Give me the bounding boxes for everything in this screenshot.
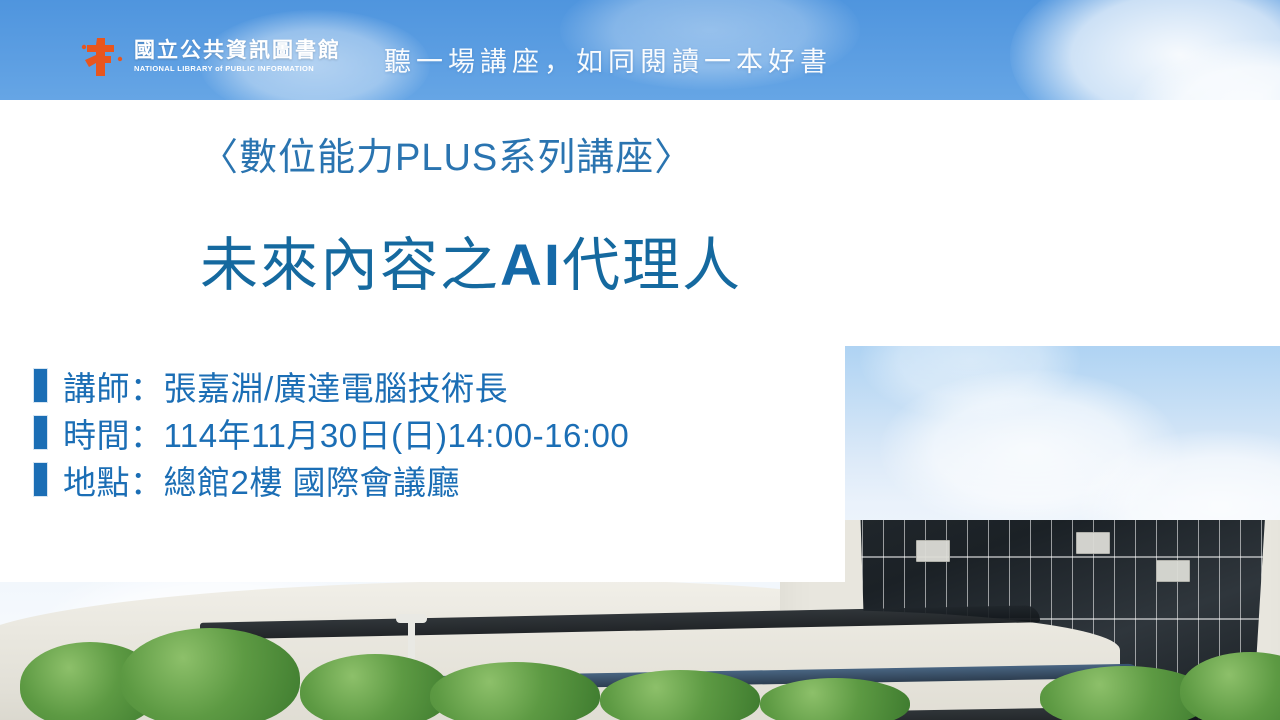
- building-balcony: [1156, 560, 1190, 582]
- cloud-shape: [880, 370, 1180, 530]
- poster-content: 〈數位能力PLUS系列講座〉 未來內容之AI代理人 講師：張嘉淵/廣達電腦技術長…: [0, 100, 845, 582]
- logo-name-zh: 國立公共資訊圖書館: [134, 39, 341, 62]
- detail-row-speaker: 講師：張嘉淵/廣達電腦技術長: [34, 362, 629, 409]
- detail-row-location: 地點：總館2樓 國際會議廳: [34, 456, 629, 503]
- bullet-bar-icon: [34, 369, 47, 402]
- building-balcony: [916, 540, 950, 562]
- detail-time: 時間：114年11月30日(日)14:00-16:00: [63, 409, 629, 457]
- building-balcony: [1076, 532, 1110, 554]
- event-poster: 國立公共資訊圖書館 NATIONAL LIBRARY of PUBLIC INF…: [0, 0, 1280, 720]
- event-details: 講師：張嘉淵/廣達電腦技術長 時間：114年11月30日(日)14:00-16:…: [34, 362, 629, 503]
- tree: [430, 662, 600, 720]
- main-title-prefix: 未來內容之: [200, 233, 500, 298]
- main-title-en: AI: [500, 233, 562, 298]
- tree: [300, 654, 450, 720]
- bullet-bar-icon: [34, 416, 47, 449]
- detail-speaker: 講師：張嘉淵/廣達電腦技術長: [63, 362, 508, 410]
- tree: [120, 628, 300, 720]
- main-title-suffix: 代理人: [562, 233, 742, 298]
- nlpi-logo-mark-icon: [80, 36, 126, 78]
- tree: [600, 670, 760, 720]
- series-title: 〈數位能力PLUS系列講座〉: [200, 126, 693, 181]
- tree: [760, 678, 910, 720]
- header-tagline: 聽一場講座，如同閱讀一本好書: [384, 40, 832, 79]
- lamp-head: [396, 614, 427, 623]
- logo-name-en: NATIONAL LIBRARY of PUBLIC INFORMATION: [134, 64, 341, 75]
- poster-header: 國立公共資訊圖書館 NATIONAL LIBRARY of PUBLIC INF…: [0, 0, 1280, 100]
- library-logo[interactable]: 國立公共資訊圖書館 NATIONAL LIBRARY of PUBLIC INF…: [80, 36, 341, 78]
- detail-row-time: 時間：114年11月30日(日)14:00-16:00: [34, 409, 629, 456]
- main-title: 未來內容之AI代理人: [200, 218, 742, 302]
- bullet-bar-icon: [34, 463, 47, 496]
- detail-location: 地點：總館2樓 國際會議廳: [63, 456, 460, 504]
